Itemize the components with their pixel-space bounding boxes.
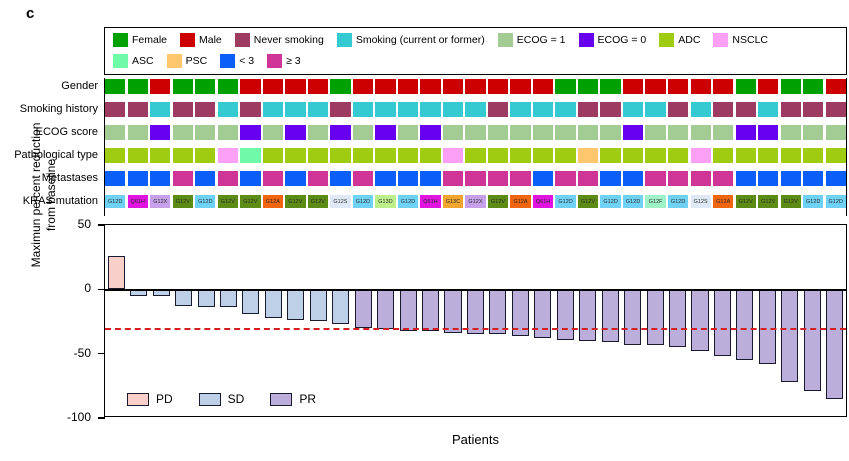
heatmap-cell	[803, 125, 823, 140]
heatmap-cell	[240, 171, 260, 186]
legend-swatch-icon	[220, 54, 235, 68]
heatmap-cell	[105, 79, 125, 94]
heatmap-cell	[173, 125, 193, 140]
heatmap-cell	[758, 148, 778, 163]
waterfall-bar-slot	[307, 225, 329, 416]
legend-swatch-icon	[113, 54, 128, 68]
waterfall-bar-slot	[262, 225, 284, 416]
heatmap-cell	[195, 148, 215, 163]
kras-mutation-cell: G12D	[668, 195, 688, 208]
heatmap-cell	[691, 171, 711, 186]
kras-mutation-cell: G12V	[173, 195, 193, 208]
legend-item-3: < 3	[220, 53, 267, 69]
heatmap-cell	[645, 125, 665, 140]
panel-letter: c	[26, 6, 34, 21]
kras-mutation-cell: G12X	[150, 195, 170, 208]
waterfall-bar-slot	[352, 225, 374, 416]
heatmap-cell	[713, 171, 733, 186]
waterfall-bar-slot	[689, 225, 711, 416]
waterfall-bar-slot	[487, 225, 509, 416]
heatmap-cell	[600, 148, 620, 163]
waterfall-bar[interactable]	[714, 289, 731, 356]
heatmap-row-kras: G12DQ61HG12XG12VG12DG12VG12VG12AG12VG12V…	[104, 193, 847, 210]
heatmap-cell	[353, 125, 373, 140]
legend-label: ASC	[132, 54, 154, 68]
heatmap-cell	[420, 125, 440, 140]
heatmap-cell	[736, 79, 756, 94]
heatmap-cell	[488, 79, 508, 94]
heatmap-cell	[105, 125, 125, 140]
legend-row-2: ASCPSC< 3≥ 3	[113, 53, 314, 69]
waterfall-bar-slot	[711, 225, 733, 416]
kras-mutation-cell: G12V	[781, 195, 801, 208]
kras-mutation-cell: G12V	[758, 195, 778, 208]
heatmap-cell	[758, 102, 778, 117]
heatmap-cell	[623, 102, 643, 117]
legend-item-never-smoking: Never smoking	[235, 32, 337, 48]
waterfall-bar-slot	[217, 225, 239, 416]
heatmap-cell	[308, 102, 328, 117]
waterfall-bar-slot	[240, 225, 262, 416]
kras-mutation-cell: G12D	[195, 195, 215, 208]
heatmap-cell	[826, 171, 846, 186]
heatmap-cell	[600, 102, 620, 117]
heatmap-cell	[533, 125, 553, 140]
heatmap-cell	[578, 171, 598, 186]
heatmap-cell	[128, 125, 148, 140]
response-legend-swatch-icon	[270, 393, 292, 406]
waterfall-bar[interactable]	[624, 289, 641, 344]
heatmap-cell	[240, 79, 260, 94]
heatmap-cell	[195, 125, 215, 140]
legend-item-male: Male	[180, 32, 235, 48]
heatmap-cell	[826, 102, 846, 117]
heatmap-cell	[263, 125, 283, 140]
heatmap-cell	[263, 79, 283, 94]
kras-mutation-cell: G12D	[623, 195, 643, 208]
heatmap-cell	[375, 148, 395, 163]
heatmap-cell	[533, 148, 553, 163]
legend-label: < 3	[239, 54, 254, 68]
heatmap-cell	[218, 125, 238, 140]
kras-mutation-cell: G13C	[443, 195, 463, 208]
heatmap-cell	[195, 79, 215, 94]
waterfall-bar-slot	[195, 225, 217, 416]
zero-baseline	[105, 289, 846, 290]
waterfall-bar[interactable]	[108, 256, 125, 289]
heatmap-cell	[510, 102, 530, 117]
heatmap-cell	[375, 79, 395, 94]
heatmap-cell	[398, 148, 418, 163]
kras-mutation-cell: G12V	[308, 195, 328, 208]
heatmap-cell	[781, 171, 801, 186]
heatmap-cell	[330, 102, 350, 117]
heatmap-row-gender	[104, 78, 847, 95]
heatmap-cell	[533, 102, 553, 117]
heatmap-cell	[398, 79, 418, 94]
heatmap-cell	[758, 125, 778, 140]
heatmap-cell	[375, 125, 395, 140]
heatmap-cell	[645, 102, 665, 117]
waterfall-bar[interactable]	[198, 289, 215, 307]
y-axis-tick-label: -50	[21, 347, 91, 359]
kras-mutation-cell: G12A	[510, 195, 530, 208]
waterfall-bar-slot	[577, 225, 599, 416]
heatmap-cell	[420, 102, 440, 117]
heatmap-cell	[623, 171, 643, 186]
legend-item-smoking-current-or-former: Smoking (current or former)	[337, 32, 498, 48]
heatmap-cell	[285, 125, 305, 140]
heatmap-cell	[173, 148, 193, 163]
heatmap-cell	[668, 102, 688, 117]
heatmap-cell	[645, 171, 665, 186]
heatmap-cell	[443, 148, 463, 163]
waterfall-bar[interactable]	[736, 289, 753, 360]
heatmap-cell	[128, 148, 148, 163]
heatmap-cell	[555, 171, 575, 186]
heatmap-cell	[128, 171, 148, 186]
heatmap-cell	[353, 102, 373, 117]
kras-mutation-cell: G12D	[600, 195, 620, 208]
heatmap-cell	[128, 79, 148, 94]
heatmap-cell	[263, 148, 283, 163]
waterfall-bar-slot	[442, 225, 464, 416]
waterfall-bar-slot	[532, 225, 554, 416]
y-axis-tick	[98, 289, 105, 291]
waterfall-bar[interactable]	[287, 289, 304, 320]
legend-item-ecog-0: ECOG = 0	[579, 32, 660, 48]
kras-mutation-cell: G12V	[736, 195, 756, 208]
legend-item-ecog-1: ECOG = 1	[498, 32, 579, 48]
heatmap-cell	[600, 125, 620, 140]
heatmap-cell	[578, 148, 598, 163]
heatmap-cell	[308, 171, 328, 186]
legend-item-nsclc: NSCLC	[713, 32, 781, 48]
legend-label: Female	[132, 33, 167, 47]
waterfall-bar[interactable]	[220, 289, 237, 307]
legend-item-female: Female	[113, 32, 180, 48]
heatmap-cell	[285, 102, 305, 117]
heatmap-cell	[375, 102, 395, 117]
response-legend: PDSDPR	[127, 392, 342, 406]
heatmap-cell	[668, 125, 688, 140]
waterfall-bar[interactable]	[647, 289, 664, 344]
kras-mutation-cell: G12D	[555, 195, 575, 208]
heatmap-cell	[218, 102, 238, 117]
legend-label: Smoking (current or former)	[356, 33, 485, 47]
heatmap-cell	[195, 171, 215, 186]
waterfall-bar[interactable]	[669, 289, 686, 347]
heatmap-cell	[826, 125, 846, 140]
heatmap-row-pathology	[104, 147, 847, 164]
heatmap-cell	[781, 125, 801, 140]
waterfall-bar[interactable]	[579, 289, 596, 340]
heatmap-cell	[803, 171, 823, 186]
y-axis-tick-label: 50	[21, 218, 91, 230]
heatmap-cell	[555, 79, 575, 94]
waterfall-bar-slot	[801, 225, 823, 416]
heatmap-cell	[623, 79, 643, 94]
heatmap-cell	[465, 148, 485, 163]
y-axis-tick-label: 0	[21, 282, 91, 294]
kras-mutation-cell: G12V	[218, 195, 238, 208]
heatmap-cell	[353, 79, 373, 94]
y-axis-tick	[98, 224, 105, 226]
waterfall-bar-slot	[509, 225, 531, 416]
heatmap-cell	[218, 171, 238, 186]
heatmap-cell	[105, 171, 125, 186]
x-axis-title: Patients	[104, 432, 847, 447]
heatmap-cell	[420, 171, 440, 186]
waterfall-bar-slot	[397, 225, 419, 416]
waterfall-bar[interactable]	[826, 289, 843, 398]
kras-mutation-cell: G12V	[488, 195, 508, 208]
heatmap-cell	[150, 148, 170, 163]
y-axis-tick-label: -100	[21, 411, 91, 423]
heatmap-cell	[600, 79, 620, 94]
heatmap-cell	[263, 171, 283, 186]
response-legend-item-pr: PR	[270, 392, 316, 406]
heatmap-cell	[736, 148, 756, 163]
legend-swatch-icon	[337, 33, 352, 47]
response-legend-label: PR	[299, 392, 316, 406]
waterfall-bar[interactable]	[377, 289, 394, 329]
heatmap-cell	[398, 125, 418, 140]
heatmap-cell	[691, 125, 711, 140]
heatmap-cell	[195, 102, 215, 117]
waterfall-bar-slot	[330, 225, 352, 416]
waterfall-bar-slot	[419, 225, 441, 416]
kras-mutation-cell: G12S	[330, 195, 350, 208]
heatmap-cell	[510, 148, 530, 163]
waterfall-bar-slot	[150, 225, 172, 416]
heatmap-cell	[488, 102, 508, 117]
figure-panel-c: c FemaleMaleNever smokingSmoking (curren…	[0, 0, 849, 461]
waterfall-bar-slot	[172, 225, 194, 416]
heatmap-cell	[758, 171, 778, 186]
kras-mutation-cell: G13D	[375, 195, 395, 208]
legend-label: ECOG = 1	[517, 33, 566, 47]
heatmap-cell	[105, 148, 125, 163]
heatmap-cell	[510, 125, 530, 140]
heatmap-cell	[713, 79, 733, 94]
heatmap-cell	[330, 79, 350, 94]
heatmap-cell	[173, 102, 193, 117]
heatmap-cell	[668, 148, 688, 163]
legend-swatch-icon	[659, 33, 674, 47]
heatmap-cell	[443, 171, 463, 186]
waterfall-bar-slot	[666, 225, 688, 416]
response-legend-label: SD	[228, 392, 245, 406]
heatmap-cell	[758, 79, 778, 94]
heatmap-cell	[308, 125, 328, 140]
heatmap-cell	[375, 171, 395, 186]
waterfall-bar[interactable]	[691, 289, 708, 351]
heatmap-cell	[105, 102, 125, 117]
heatmap-cell	[691, 102, 711, 117]
kras-mutation-cell: Q61H	[533, 195, 553, 208]
waterfall-bar[interactable]	[265, 289, 282, 317]
waterfall-bar[interactable]	[310, 289, 327, 321]
heatmap-cell	[578, 79, 598, 94]
heatmap-cell	[555, 125, 575, 140]
kras-mutation-cell: G12V	[285, 195, 305, 208]
legend-swatch-icon	[713, 33, 728, 47]
heatmap-cell	[691, 148, 711, 163]
heatmap-cell	[488, 125, 508, 140]
heatmap-cell	[578, 102, 598, 117]
legend-swatch-icon	[180, 33, 195, 47]
kras-mutation-cell: G12D	[826, 195, 846, 208]
heatmap-cell	[736, 102, 756, 117]
heatmap-cell	[285, 79, 305, 94]
heatmap-row-label: Gender	[0, 78, 98, 95]
heatmap-cell	[668, 79, 688, 94]
heatmap-cell	[803, 79, 823, 94]
heatmap-cell	[443, 125, 463, 140]
legend-swatch-icon	[498, 33, 513, 47]
kras-mutation-cell: G12D	[105, 195, 125, 208]
heatmap-row-ecog	[104, 124, 847, 141]
heatmap-cell	[285, 148, 305, 163]
heatmap-row-smoking	[104, 101, 847, 118]
waterfall-bar[interactable]	[557, 289, 574, 339]
heatmap-cell	[713, 102, 733, 117]
legend-label: ≥ 3	[286, 54, 301, 68]
heatmap-cell	[555, 148, 575, 163]
kras-mutation-cell: G12V	[240, 195, 260, 208]
legend-item-psc: PSC	[167, 53, 221, 69]
waterfall-bar[interactable]	[355, 289, 372, 328]
legend-item-asc: ASC	[113, 53, 167, 69]
heatmap-cell	[578, 125, 598, 140]
heatmap-cell	[488, 148, 508, 163]
heatmap-cell	[465, 125, 485, 140]
response-legend-swatch-icon	[199, 393, 221, 406]
waterfall-bar[interactable]	[602, 289, 619, 342]
waterfall-bar-slot	[734, 225, 756, 416]
waterfall-bar-slot	[374, 225, 396, 416]
heatmap-cell	[330, 171, 350, 186]
heatmap-cell	[736, 171, 756, 186]
heatmap-cell	[420, 148, 440, 163]
heatmap-cell	[781, 102, 801, 117]
heatmap-cell	[443, 102, 463, 117]
heatmap-row-metastases	[104, 170, 847, 187]
waterfall-bar-slot	[285, 225, 307, 416]
waterfall-bar-slot	[127, 225, 149, 416]
heatmap-cell	[240, 125, 260, 140]
heatmap-cell	[533, 79, 553, 94]
heatmap-cell	[623, 125, 643, 140]
response-threshold-line	[105, 328, 846, 330]
heatmap-cell	[645, 79, 665, 94]
legend-row-1: FemaleMaleNever smokingSmoking (current …	[113, 32, 781, 48]
heatmap-cell	[330, 125, 350, 140]
heatmap-cell	[353, 148, 373, 163]
heatmap-cell	[803, 148, 823, 163]
kras-mutation-cell: G12D	[398, 195, 418, 208]
legend-label: ADC	[678, 33, 700, 47]
heatmap-cell	[826, 148, 846, 163]
heatmap-cell	[150, 171, 170, 186]
waterfall-bar[interactable]	[242, 289, 259, 313]
heatmap-cell	[285, 171, 305, 186]
waterfall-bar-slot	[105, 225, 127, 416]
annotation-legend: FemaleMaleNever smokingSmoking (current …	[104, 27, 847, 75]
heatmap-cell	[263, 102, 283, 117]
waterfall-bar-slot	[554, 225, 576, 416]
waterfall-bar[interactable]	[759, 289, 776, 364]
response-legend-item-pd: PD	[127, 392, 173, 406]
heatmap-cell	[330, 148, 350, 163]
waterfall-bar-slot	[599, 225, 621, 416]
heatmap-cell	[465, 79, 485, 94]
kras-mutation-cell: G12A	[713, 195, 733, 208]
heatmap-cell	[600, 171, 620, 186]
heatmap-cell	[173, 171, 193, 186]
kras-mutation-cell: G12F	[645, 195, 665, 208]
legend-label: PSC	[186, 54, 208, 68]
waterfall-bars	[105, 225, 846, 416]
kras-mutation-cell: G12X	[465, 195, 485, 208]
heatmap-cell	[443, 79, 463, 94]
legend-swatch-icon	[113, 33, 128, 47]
response-legend-label: PD	[156, 392, 173, 406]
heatmap-cell	[713, 125, 733, 140]
waterfall-bar[interactable]	[400, 289, 417, 330]
heatmap-cell	[173, 79, 193, 94]
heatmap-cell	[150, 125, 170, 140]
waterfall-bar[interactable]	[422, 289, 439, 330]
heatmap-cell	[510, 79, 530, 94]
waterfall-bar[interactable]	[332, 289, 349, 324]
heatmap-cell	[691, 79, 711, 94]
y-axis-tick	[98, 417, 105, 419]
legend-label: ECOG = 0	[598, 33, 647, 47]
legend-label: Male	[199, 33, 222, 47]
heatmap-cell	[353, 171, 373, 186]
waterfall-bar-slot	[779, 225, 801, 416]
waterfall-bar[interactable]	[781, 289, 798, 382]
heatmap-cell	[128, 102, 148, 117]
heatmap-cell	[555, 102, 575, 117]
response-legend-item-sd: SD	[199, 392, 245, 406]
legend-item-adc: ADC	[659, 32, 713, 48]
waterfall-bar[interactable]	[444, 289, 461, 333]
waterfall-bar-slot	[756, 225, 778, 416]
legend-label: NSCLC	[732, 33, 768, 47]
kras-mutation-cell: Q61H	[128, 195, 148, 208]
heatmap-cell	[218, 79, 238, 94]
heatmap-cell	[218, 148, 238, 163]
heatmap-cell	[781, 148, 801, 163]
waterfall-bar[interactable]	[534, 289, 551, 338]
legend-swatch-icon	[579, 33, 594, 47]
heatmap-cell	[510, 171, 530, 186]
heatmap-cell	[308, 79, 328, 94]
kras-mutation-cell: G12A	[263, 195, 283, 208]
heatmap-cell	[240, 102, 260, 117]
waterfall-bar[interactable]	[804, 289, 821, 391]
heatmap-cell	[420, 79, 440, 94]
kras-mutation-cell: G12V	[578, 195, 598, 208]
y-axis-tick	[98, 353, 105, 355]
waterfall-bar[interactable]	[175, 289, 192, 306]
heatmap-cell	[398, 102, 418, 117]
heatmap-cell	[713, 148, 733, 163]
waterfall-bar-slot	[824, 225, 846, 416]
